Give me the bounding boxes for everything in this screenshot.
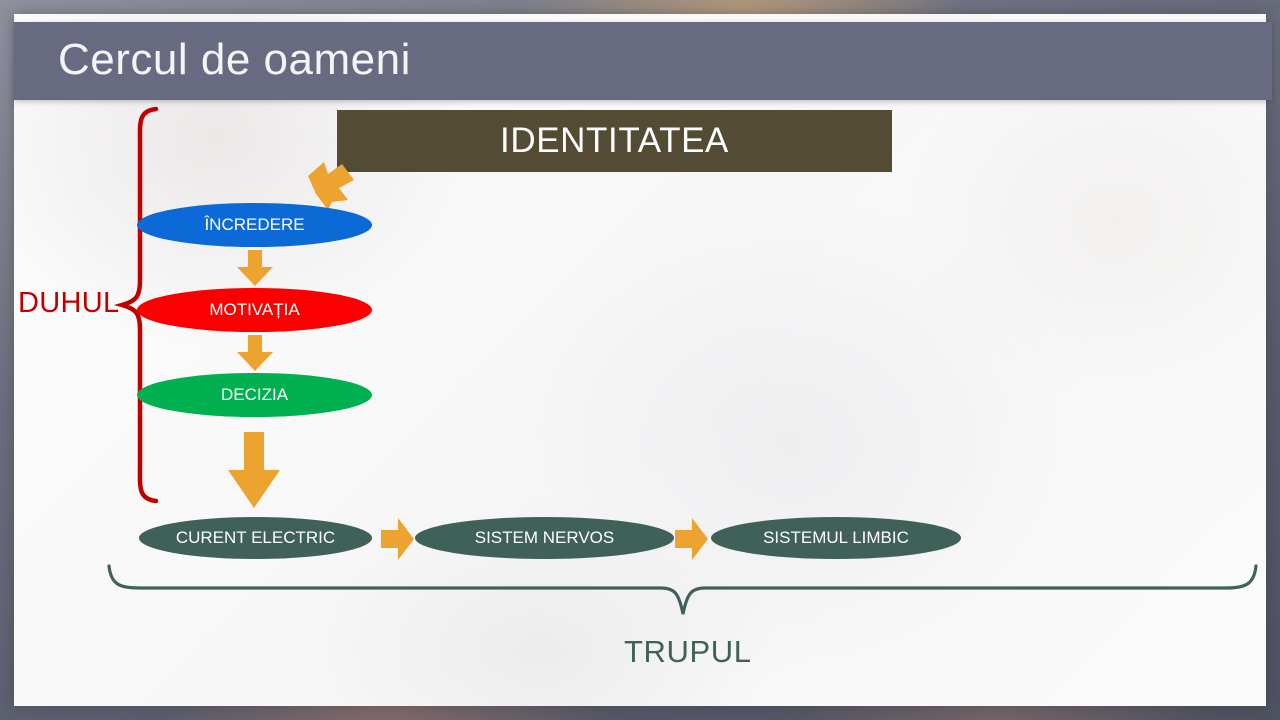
node-sistem-nervos-label: SISTEM NERVOS [475,528,615,548]
identity-banner-label: IDENTITATEA [500,121,729,161]
node-decizia: DECIZIA [137,373,372,417]
node-sistem-nervos: SISTEM NERVOS [415,517,674,559]
arrow-down-icon-2 [235,335,275,371]
arrow-down-icon-1 [235,250,275,286]
arrow-down-icon-3 [226,432,282,508]
node-incredere: ÎNCREDERE [137,203,372,247]
arrow-right-icon-1 [381,518,414,560]
node-motivatia-label: MOTIVAȚIA [209,300,299,320]
body-brace [105,562,1260,620]
node-sistemul-limbic: SISTEMUL LIMBIC [711,517,961,559]
presentation-slide: Cercul de oameni IDENTITATEA DUHUL ÎNCRE… [0,0,1280,720]
slide-title-bar: Cercul de oameni [14,22,1272,100]
body-label: TRUPUL [624,634,752,670]
arrow-up-right-icon [302,160,360,210]
node-sistemul-limbic-label: SISTEMUL LIMBIC [763,528,909,548]
arrow-right-icon-2 [675,518,708,560]
node-incredere-label: ÎNCREDERE [204,215,304,235]
node-motivatia: MOTIVAȚIA [137,288,372,332]
identity-banner: IDENTITATEA [337,110,892,172]
node-decizia-label: DECIZIA [221,385,288,405]
page-title: Cercul de oameni [58,35,411,85]
node-curent-electric-label: CURENT ELECTRIC [176,528,335,548]
node-curent-electric: CURENT ELECTRIC [139,517,372,559]
spirit-label: DUHUL [18,287,119,320]
